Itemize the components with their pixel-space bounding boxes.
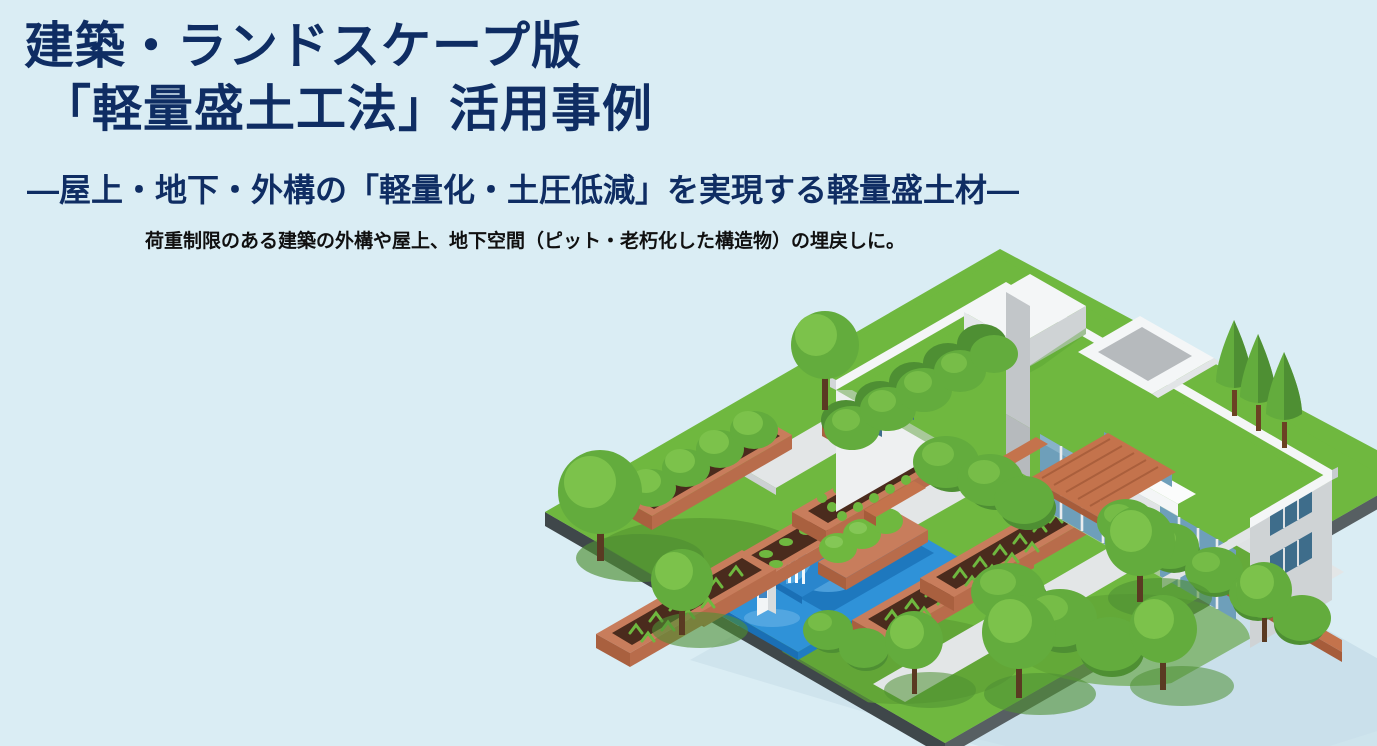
page-title-line-2: 「軽量盛土工法」活用事例 (41, 80, 653, 138)
page-caption: 荷重制限のある建築の外構や屋上、地下空間（ピット・老朽化した構造物）の埋戻しに。 (145, 229, 905, 255)
poster-page: 建築・ランドスケープ版 「軽量盛土工法」活用事例 ―屋上・地下・外構の「軽量化・… (0, 0, 1377, 746)
page-title-line-1: 建築・ランドスケープ版 (24, 17, 582, 75)
page-subtitle: ―屋上・地下・外構の「軽量化・土圧低減」を実現する軽量盛土材― (27, 170, 1019, 210)
